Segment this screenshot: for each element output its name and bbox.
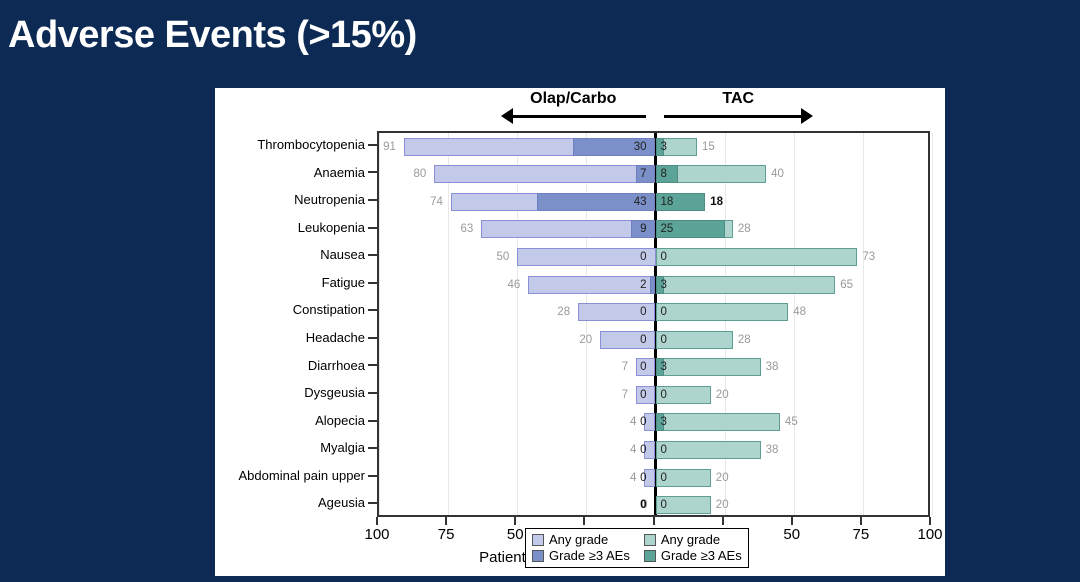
category-tick <box>368 227 377 229</box>
value-right-any-grade: 28 <box>738 331 751 349</box>
value-left-grade3: 30 <box>634 138 647 156</box>
value-axis-tick <box>860 517 862 525</box>
value-left-grade3: 0 <box>640 248 646 266</box>
bar-right-any-grade <box>656 331 733 349</box>
value-right-grade3: 0 <box>661 496 667 514</box>
value-right-any-grade: 40 <box>771 165 784 183</box>
value-axis-tick <box>445 517 447 525</box>
value-left-any-grade: 74 <box>430 193 443 211</box>
value-axis-tick-label: 75 <box>853 526 870 543</box>
category-tick <box>368 475 377 477</box>
value-axis-tick <box>791 517 793 525</box>
category-axis: ThrombocytopeniaAnaemiaNeutropeniaLeukop… <box>215 131 377 517</box>
value-left-grade3: 0 <box>640 441 646 459</box>
value-right-grade3: 3 <box>661 276 667 294</box>
category-tick <box>368 364 377 366</box>
value-left-any-grade: 7 <box>622 386 628 404</box>
category-tick <box>368 171 377 173</box>
chart-row: 462365 <box>379 271 928 299</box>
chart-row: 500073 <box>379 243 928 271</box>
value-left-any-grade: 46 <box>508 276 521 294</box>
group-direction-header: Olap/Carbo TAC <box>215 88 945 131</box>
value-left-any-grade: 20 <box>579 331 592 349</box>
bar-left-any-grade <box>434 165 655 183</box>
legend-item-left-any: Any grade <box>532 532 630 547</box>
chart-legend: Any grade Any grade Grade ≥3 AEs Grade ≥… <box>525 528 749 568</box>
arrow-right-icon <box>801 108 813 124</box>
legend-label-right-any: Any grade <box>661 532 720 547</box>
category-tick <box>368 420 377 422</box>
legend-label-left-any: Any grade <box>549 532 608 547</box>
bar-left-any-grade <box>481 220 655 238</box>
chart-row: 70020 <box>379 381 928 409</box>
value-right-any-grade: 65 <box>840 276 853 294</box>
value-left-grade3: 0 <box>640 413 646 431</box>
bar-left-any-grade <box>600 331 655 349</box>
category-tick <box>368 254 377 256</box>
category-label: Fatigue <box>322 269 365 297</box>
value-right-any-grade: 38 <box>766 358 779 376</box>
group-label-left: Olap/Carbo <box>501 90 646 108</box>
bar-left-any-grade <box>528 276 655 294</box>
category-tick <box>368 447 377 449</box>
value-axis-tick <box>653 517 655 525</box>
legend-label-right-g3: Grade ≥3 AEs <box>661 548 742 563</box>
legend-label-left-g3: Grade ≥3 AEs <box>549 548 630 563</box>
value-left-grade3: 7 <box>640 165 646 183</box>
value-left-any-grade: 91 <box>383 138 396 156</box>
value-left-any-grade: 50 <box>496 248 509 266</box>
value-left-any-grade: 28 <box>557 303 570 321</box>
legend-swatch-left-any <box>532 534 544 546</box>
bar-right-any-grade <box>656 303 789 321</box>
figure-panel: Olap/Carbo TAC ThrombocytopeniaAnaemiaNe… <box>215 88 945 576</box>
category-tick <box>368 392 377 394</box>
value-left-any-grade: 7 <box>622 358 628 376</box>
legend-swatch-left-g3 <box>532 550 544 562</box>
value-left-any-grade: 80 <box>414 165 427 183</box>
chart-row: 280048 <box>379 298 928 326</box>
category-label: Ageusia <box>318 489 365 517</box>
legend-item-right-any: Any grade <box>644 532 742 547</box>
value-right-any-grade: 20 <box>716 469 729 487</box>
value-axis-tick <box>583 517 585 525</box>
bar-right-any-grade <box>656 441 761 459</box>
value-right-grade3: 0 <box>661 386 667 404</box>
category-tick <box>368 144 377 146</box>
value-right-grade3: 3 <box>661 358 667 376</box>
legend-swatch-right-g3 <box>644 550 656 562</box>
category-label: Headache <box>306 324 365 352</box>
value-right-any-grade: 20 <box>716 386 729 404</box>
chart-row: 70338 <box>379 354 928 382</box>
category-label: Leukopenia <box>298 214 365 242</box>
value-right-grade3: 18 <box>661 193 674 211</box>
value-right-grade3: 0 <box>661 303 667 321</box>
plot-area: 9130315807840744318186392528500073462365… <box>377 131 930 517</box>
value-axis-tick <box>929 517 931 525</box>
category-label: Neutropenia <box>294 186 365 214</box>
value-right-any-grade: 38 <box>766 441 779 459</box>
value-left-grade3: 9 <box>640 220 646 238</box>
value-left-grade3: 0 <box>640 469 646 487</box>
category-tick <box>368 502 377 504</box>
category-label: Myalgia <box>320 434 365 462</box>
value-right-grade3: 0 <box>661 248 667 266</box>
chart-row: 00020 <box>379 491 928 519</box>
category-label: Dysgeusia <box>304 379 365 407</box>
arrow-left-icon <box>501 108 513 124</box>
value-right-grade3: 25 <box>661 220 674 238</box>
value-left-grade3: 2 <box>640 276 646 294</box>
category-label: Thrombocytopenia <box>257 131 365 159</box>
chart-row: 74431818 <box>379 188 928 216</box>
value-right-any-grade: 28 <box>738 220 751 238</box>
value-right-any-grade: 48 <box>793 303 806 321</box>
value-left-grade3: 0 <box>640 386 646 404</box>
value-right-any-grade: 45 <box>785 413 798 431</box>
value-left-any-grade: 4 <box>630 441 636 459</box>
value-right-any-grade: 73 <box>862 248 875 266</box>
gridline <box>932 133 933 515</box>
value-left-any-grade: 63 <box>461 220 474 238</box>
value-right-grade3: 0 <box>661 469 667 487</box>
value-left-grade3: 0 <box>640 331 646 349</box>
value-right-grade3: 0 <box>661 441 667 459</box>
group-label-right: TAC <box>664 90 814 108</box>
category-label: Abdominal pain upper <box>239 462 365 490</box>
value-axis-tick <box>722 517 724 525</box>
chart-row: 40020 <box>379 464 928 492</box>
arrow-right-line <box>664 115 802 118</box>
category-tick <box>368 282 377 284</box>
arrow-left-line <box>513 115 646 118</box>
value-axis-tick-label: 50 <box>783 526 800 543</box>
value-right-any-grade: 18 <box>710 193 723 211</box>
value-right-grade3: 8 <box>661 165 667 183</box>
value-axis-tick <box>376 517 378 525</box>
value-right-any-grade: 15 <box>702 138 715 156</box>
page-title: Adverse Events (>15%) <box>8 14 417 57</box>
chart-row: 40345 <box>379 409 928 437</box>
value-left-any-grade: 4 <box>630 413 636 431</box>
legend-swatch-right-any <box>644 534 656 546</box>
plot-inner: 9130315807840744318186392528500073462365… <box>379 133 928 515</box>
category-tick <box>368 199 377 201</box>
category-label: Diarrhoea <box>308 352 365 380</box>
bar-right-any-grade <box>656 358 761 376</box>
legend-item-right-g3: Grade ≥3 AEs <box>644 548 742 563</box>
value-axis-tick-label: 75 <box>438 526 455 543</box>
bar-right-any-grade <box>656 413 780 431</box>
value-axis-tick-label: 50 <box>507 526 524 543</box>
chart-row: 9130315 <box>379 133 928 161</box>
value-axis-tick <box>514 517 516 525</box>
chart-row: 40038 <box>379 436 928 464</box>
chart-row: 807840 <box>379 161 928 189</box>
value-right-grade3: 0 <box>661 331 667 349</box>
value-axis-tick-label: 100 <box>917 526 942 543</box>
bar-left-any-grade <box>517 248 655 266</box>
value-right-any-grade: 20 <box>716 496 729 514</box>
legend-item-left-g3: Grade ≥3 AEs <box>532 548 630 563</box>
value-left-grade3: 43 <box>634 193 647 211</box>
category-label: Alopecia <box>315 407 365 435</box>
value-left-grade3: 0 <box>640 303 646 321</box>
category-tick <box>368 309 377 311</box>
value-right-grade3: 3 <box>661 138 667 156</box>
category-label: Nausea <box>320 241 365 269</box>
value-right-grade3: 3 <box>661 413 667 431</box>
value-left-any-grade: 4 <box>630 469 636 487</box>
category-label: Constipation <box>293 296 365 324</box>
chart-row: 200028 <box>379 326 928 354</box>
bar-right-any-grade <box>656 248 858 266</box>
chart-row: 6392528 <box>379 216 928 244</box>
value-left-grade3: 0 <box>640 358 646 376</box>
bar-right-any-grade <box>656 276 836 294</box>
category-label: Anaemia <box>314 159 365 187</box>
category-tick <box>368 337 377 339</box>
value-axis-tick-label: 100 <box>364 526 389 543</box>
value-left-grade3: 0 <box>640 496 646 514</box>
